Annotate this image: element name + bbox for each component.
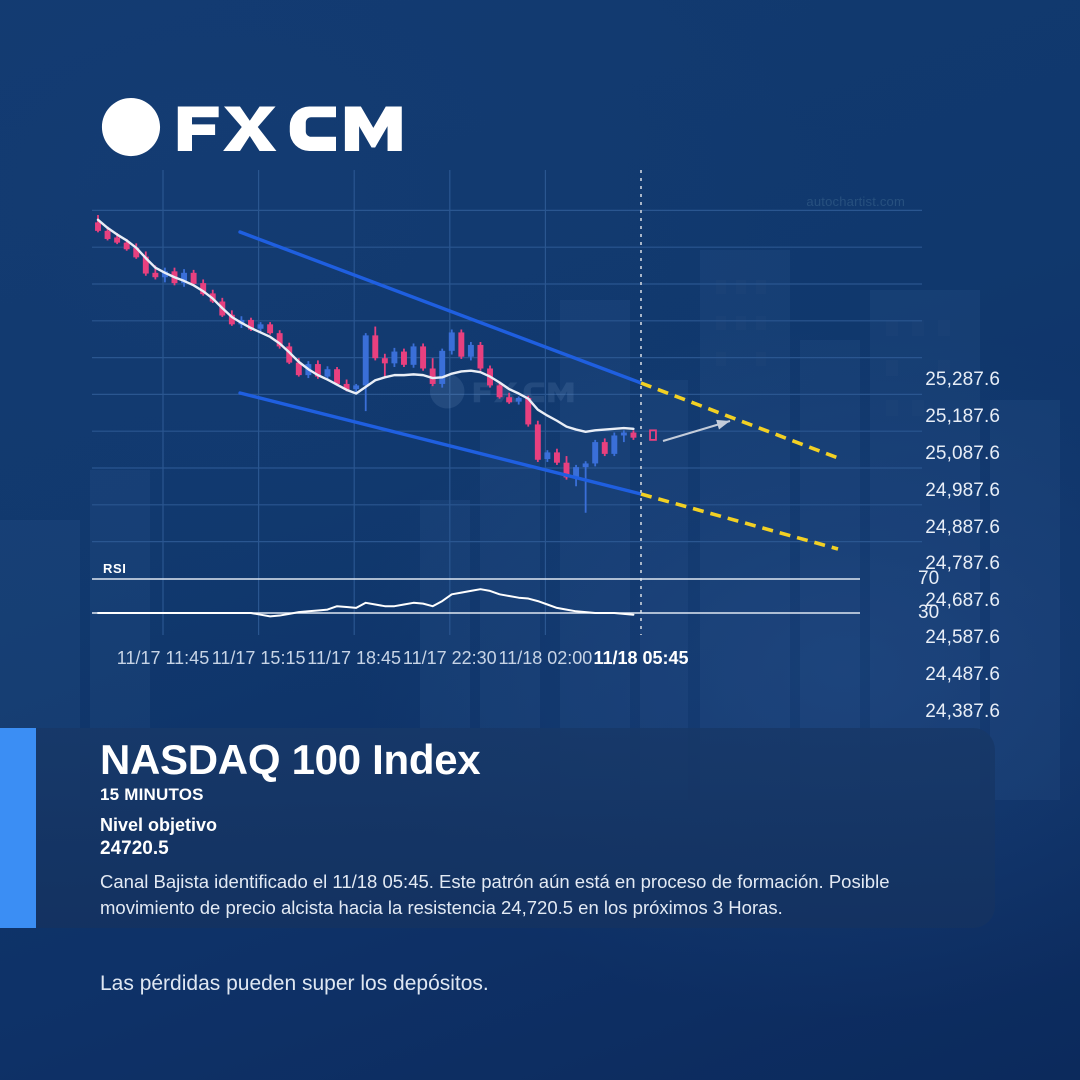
price-tick-label: 25,187.6	[925, 406, 1000, 428]
time-tick-label: 11/18 05:45	[593, 648, 688, 669]
rsi-panel	[92, 579, 860, 616]
fxcm-wordmark-icon	[176, 103, 407, 151]
time-tick-label: 11/17 22:30	[403, 648, 497, 669]
time-tick-label: 11/17 11:45	[117, 648, 209, 669]
target-level-label: Nivel objetivo	[100, 815, 955, 836]
chart-vertical-gridlines	[163, 170, 545, 635]
rsi-label: RSI	[103, 561, 126, 576]
page-title: NASDAQ 100 Index	[100, 738, 955, 783]
fxcm-logo-icon	[100, 96, 162, 158]
price-axis: 25,287.625,187.625,087.624,987.624,887.6…	[900, 170, 1080, 570]
time-tick-label: 11/18 02:00	[499, 648, 593, 669]
price-tick-label: 24,987.6	[925, 480, 1000, 502]
price-tick-label: 24,387.6	[925, 701, 1000, 723]
pattern-description: Canal Bajista identificado el 11/18 05:4…	[100, 869, 955, 922]
info-panel: NASDAQ 100 Index 15 MINUTOS Nivel objeti…	[36, 728, 995, 928]
price-tick-label: 24,887.6	[925, 517, 1000, 539]
price-tick-label: 24,587.6	[925, 627, 1000, 649]
target-level-value: 24720.5	[100, 838, 955, 860]
panel-accent-bar	[0, 728, 36, 928]
time-tick-label: 11/17 18:45	[307, 648, 401, 669]
promo-card: RSI autochartist.com 25,287.625,187.625,…	[0, 0, 1080, 1080]
price-tick-label: 25,087.6	[925, 443, 1000, 465]
target-arrow-icon	[663, 420, 730, 441]
lower-projection-line	[641, 494, 838, 549]
time-tick-label: 11/17 15:15	[212, 648, 306, 669]
price-tick-label: 25,287.6	[925, 369, 1000, 391]
fxcm-logo	[100, 96, 407, 158]
risk-disclaimer: Las pérdidas pueden super los depósitos.	[100, 972, 489, 996]
rsi-tick-label: 70	[918, 568, 939, 590]
lower-channel-line	[240, 393, 641, 494]
autochartist-watermark: autochartist.com	[806, 194, 905, 209]
timeframe-label: 15 MINUTOS	[100, 785, 955, 805]
chart-gridlines	[92, 210, 922, 541]
time-axis: 11/17 11:4511/17 15:1511/17 18:4511/17 2…	[0, 648, 1080, 678]
rsi-tick-label: 30	[918, 602, 939, 624]
